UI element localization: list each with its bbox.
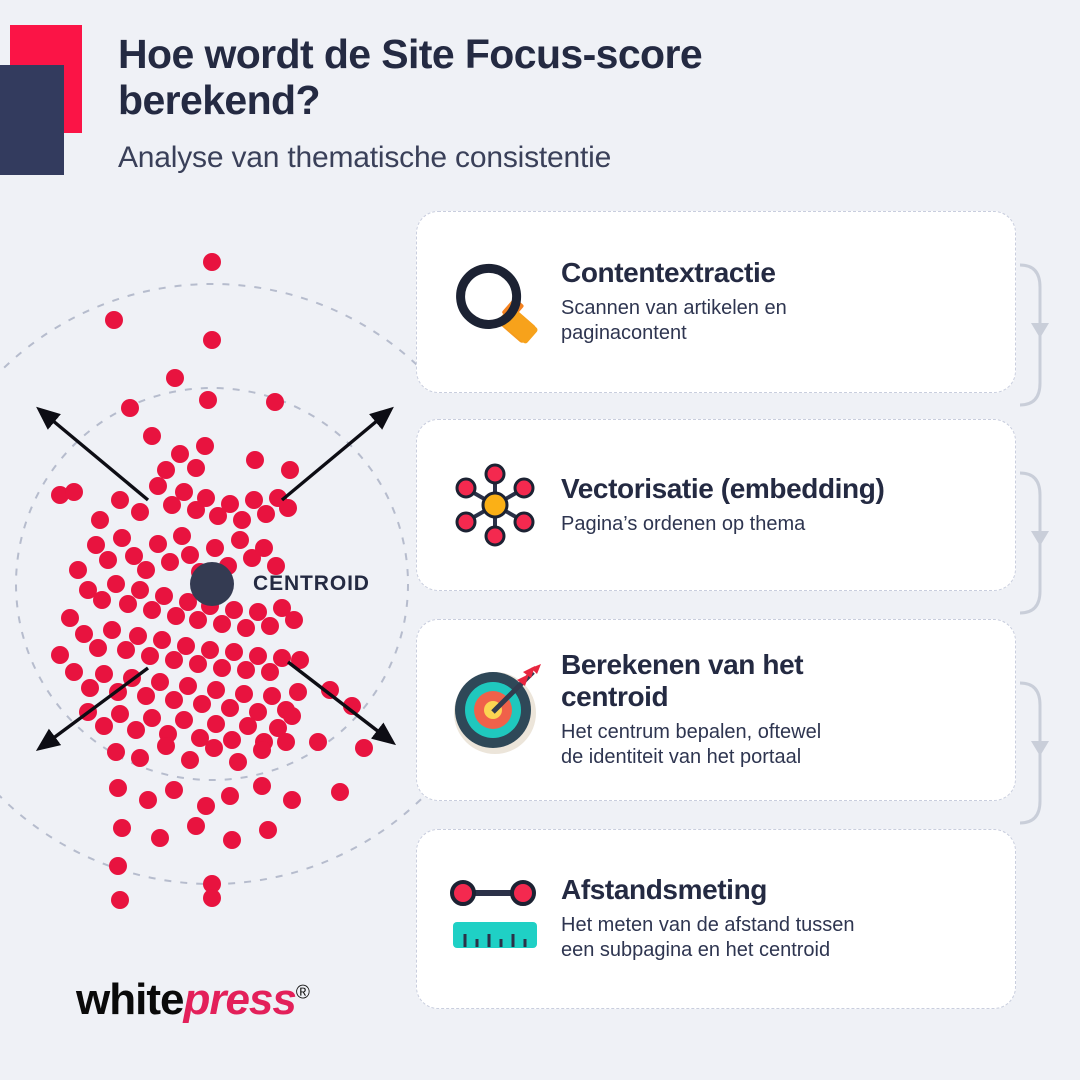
scatter-point xyxy=(177,637,195,655)
scatter-point xyxy=(235,685,253,703)
scatter-point xyxy=(189,655,207,673)
header: Hoe wordt de Site Focus-score berekend? … xyxy=(118,32,998,176)
scatter-point xyxy=(261,663,279,681)
scatter-point xyxy=(65,483,83,501)
scatter-point xyxy=(139,791,157,809)
scatter-point xyxy=(117,641,135,659)
scatter-point xyxy=(223,831,241,849)
scatter-point xyxy=(175,483,193,501)
spread-arrow xyxy=(282,410,390,500)
scatter-point xyxy=(93,591,111,609)
scatter-point xyxy=(249,647,267,665)
scatter-point xyxy=(187,459,205,477)
scatter-point xyxy=(129,627,147,645)
scatter-point xyxy=(196,437,214,455)
scatter-point xyxy=(253,741,271,759)
scatter-point xyxy=(125,547,143,565)
scatter-point xyxy=(246,451,264,469)
scatter-point xyxy=(237,661,255,679)
step-card-vectorisatie[interactable]: Vectorisatie (embedding) Pagina’s ordene… xyxy=(416,419,1016,591)
navy-square-decoration xyxy=(0,65,64,175)
scatter-point xyxy=(203,889,221,907)
scatter-point xyxy=(257,505,275,523)
scatter-point xyxy=(153,631,171,649)
scatter-point xyxy=(181,546,199,564)
scatter-point xyxy=(137,561,155,579)
scatter-point xyxy=(179,677,197,695)
scatter-point xyxy=(331,783,349,801)
scatter-point xyxy=(111,891,129,909)
scatter-point xyxy=(167,607,185,625)
scatter-point xyxy=(155,587,173,605)
scatter-point xyxy=(197,797,215,815)
scatter-point xyxy=(69,561,87,579)
scatter-point xyxy=(223,731,241,749)
scatter-point xyxy=(149,477,167,495)
scatter-point xyxy=(113,819,131,837)
scatter-point xyxy=(231,531,249,549)
scatter-point xyxy=(281,461,299,479)
scatter-point xyxy=(149,535,167,553)
centroid-dot xyxy=(190,562,234,606)
scatter-point xyxy=(261,617,279,635)
step-card-afstandsmeting[interactable]: Afstandsmeting Het meten van de afstand … xyxy=(416,829,1016,1009)
scatter-point xyxy=(131,749,149,767)
logo-press: press xyxy=(183,975,295,1024)
scatter-point xyxy=(255,539,273,557)
scatter-point xyxy=(355,739,373,757)
scatter-point xyxy=(157,737,175,755)
logo-trademark: ® xyxy=(296,982,309,1003)
scatter-point xyxy=(221,787,239,805)
scatter-point xyxy=(103,621,121,639)
step-title: Afstandsmeting xyxy=(561,874,983,906)
scatter-point xyxy=(203,253,221,271)
scatter-point xyxy=(221,495,239,513)
scatter-point xyxy=(165,691,183,709)
scatter-point xyxy=(237,619,255,637)
scatter-point xyxy=(199,391,217,409)
scatter-point xyxy=(285,611,303,629)
scatter-point xyxy=(111,491,129,509)
scatter-point xyxy=(206,539,224,557)
scatter-point xyxy=(309,733,327,751)
centroid-label: CENTROID xyxy=(253,572,370,596)
scatter-point xyxy=(131,503,149,521)
target-arrow-icon xyxy=(443,658,547,762)
scatter-point xyxy=(189,611,207,629)
card-body: Contentextractie Scannen van artikelen e… xyxy=(561,257,989,347)
scatter-point xyxy=(239,717,257,735)
scatter-point xyxy=(213,615,231,633)
scatter-point xyxy=(165,651,183,669)
scatter-point xyxy=(197,489,215,507)
scatter-point xyxy=(245,491,263,509)
card-body: Vectorisatie (embedding) Pagina’s ordene… xyxy=(561,473,989,538)
scatter-point xyxy=(109,779,127,797)
scatter-point xyxy=(289,683,307,701)
step-title: Vectorisatie (embedding) xyxy=(561,473,983,505)
scatter-point xyxy=(229,753,247,771)
step-title: Berekenen van het centroid xyxy=(561,649,983,713)
scatter-point xyxy=(279,499,297,517)
step-description: Scannen van artikelen en paginacontent xyxy=(561,296,983,347)
scatter-point xyxy=(81,679,99,697)
scatter-point xyxy=(283,791,301,809)
connector-svg xyxy=(1012,205,1080,905)
scatter-point xyxy=(253,777,271,795)
scatter-point xyxy=(205,739,223,757)
card-body: Berekenen van het centroid Het centrum b… xyxy=(561,649,989,771)
scatter-point xyxy=(175,711,193,729)
scatter-point xyxy=(171,445,189,463)
scatter-point xyxy=(201,641,219,659)
scatter-point xyxy=(263,687,281,705)
scatter-point xyxy=(249,603,267,621)
scatter-point xyxy=(221,699,239,717)
scatter-point xyxy=(233,511,251,529)
scatter-point xyxy=(225,601,243,619)
scatter-point xyxy=(151,829,169,847)
scatter-point xyxy=(111,705,129,723)
scatter-point xyxy=(109,857,127,875)
scatter-point xyxy=(107,743,125,761)
spread-arrow xyxy=(288,662,392,742)
scatter-point xyxy=(193,695,211,713)
scatter-point xyxy=(166,369,184,387)
scatter-point xyxy=(225,643,243,661)
step-description: Het meten van de afstand tussen een subp… xyxy=(561,913,983,964)
scatter-point xyxy=(99,551,117,569)
scatter-point xyxy=(107,575,125,593)
step-description: Pagina’s ordenen op thema xyxy=(561,512,983,538)
scatter-point xyxy=(203,331,221,349)
scatter-point xyxy=(157,461,175,479)
scatter-point xyxy=(143,601,161,619)
scatter-point xyxy=(119,595,137,613)
scatter-point xyxy=(95,665,113,683)
spread-arrow xyxy=(40,410,148,500)
page-subtitle: Analyse van thematische consistentie xyxy=(118,140,998,176)
whitepress-logo: whitepress® xyxy=(76,975,309,1025)
ruler-distance-icon xyxy=(443,867,547,971)
scatter-point xyxy=(51,646,69,664)
scatter-point xyxy=(141,647,159,665)
scatter-point xyxy=(105,311,123,329)
magnifier-icon xyxy=(443,250,547,354)
scatter-point xyxy=(277,733,295,751)
scatter-point xyxy=(95,717,113,735)
scatter-point xyxy=(161,553,179,571)
infographic-root: Hoe wordt de Site Focus-score berekend? … xyxy=(0,0,1080,1080)
scatter-point xyxy=(137,687,155,705)
scatter-point xyxy=(151,673,169,691)
scatter-point xyxy=(131,581,149,599)
scatter-point xyxy=(61,609,79,627)
step-connectors xyxy=(1012,205,1080,905)
scatter-point xyxy=(143,427,161,445)
step-title: Contentextractie xyxy=(561,257,983,289)
scatter-point xyxy=(266,393,284,411)
scatter-point xyxy=(127,721,145,739)
scatter-point xyxy=(207,715,225,733)
card-body: Afstandsmeting Het meten van de afstand … xyxy=(561,874,989,964)
scatter-point xyxy=(65,663,83,681)
scatter-point xyxy=(75,625,93,643)
scatter-point xyxy=(121,399,139,417)
step-card-centroid[interactable]: Berekenen van het centroid Het centrum b… xyxy=(416,619,1016,801)
scatter-point xyxy=(181,751,199,769)
step-description: Het centrum bepalen, oftewel de identite… xyxy=(561,720,983,771)
scatter-point xyxy=(87,536,105,554)
logo-white: white xyxy=(76,975,183,1024)
scatter-point xyxy=(165,781,183,799)
scatter-point xyxy=(259,821,277,839)
page-title: Hoe wordt de Site Focus-score berekend? xyxy=(118,32,998,124)
scatter-point xyxy=(207,681,225,699)
scatter-point xyxy=(213,659,231,677)
scatter-point xyxy=(173,527,191,545)
scatter-point xyxy=(89,639,107,657)
scatter-point xyxy=(187,817,205,835)
scatter-point xyxy=(283,707,301,725)
vector-network-icon xyxy=(443,453,547,557)
scatter-point xyxy=(113,529,131,547)
scatter-point xyxy=(143,709,161,727)
scatter-point xyxy=(91,511,109,529)
step-card-contentextractie[interactable]: Contentextractie Scannen van artikelen e… xyxy=(416,211,1016,393)
